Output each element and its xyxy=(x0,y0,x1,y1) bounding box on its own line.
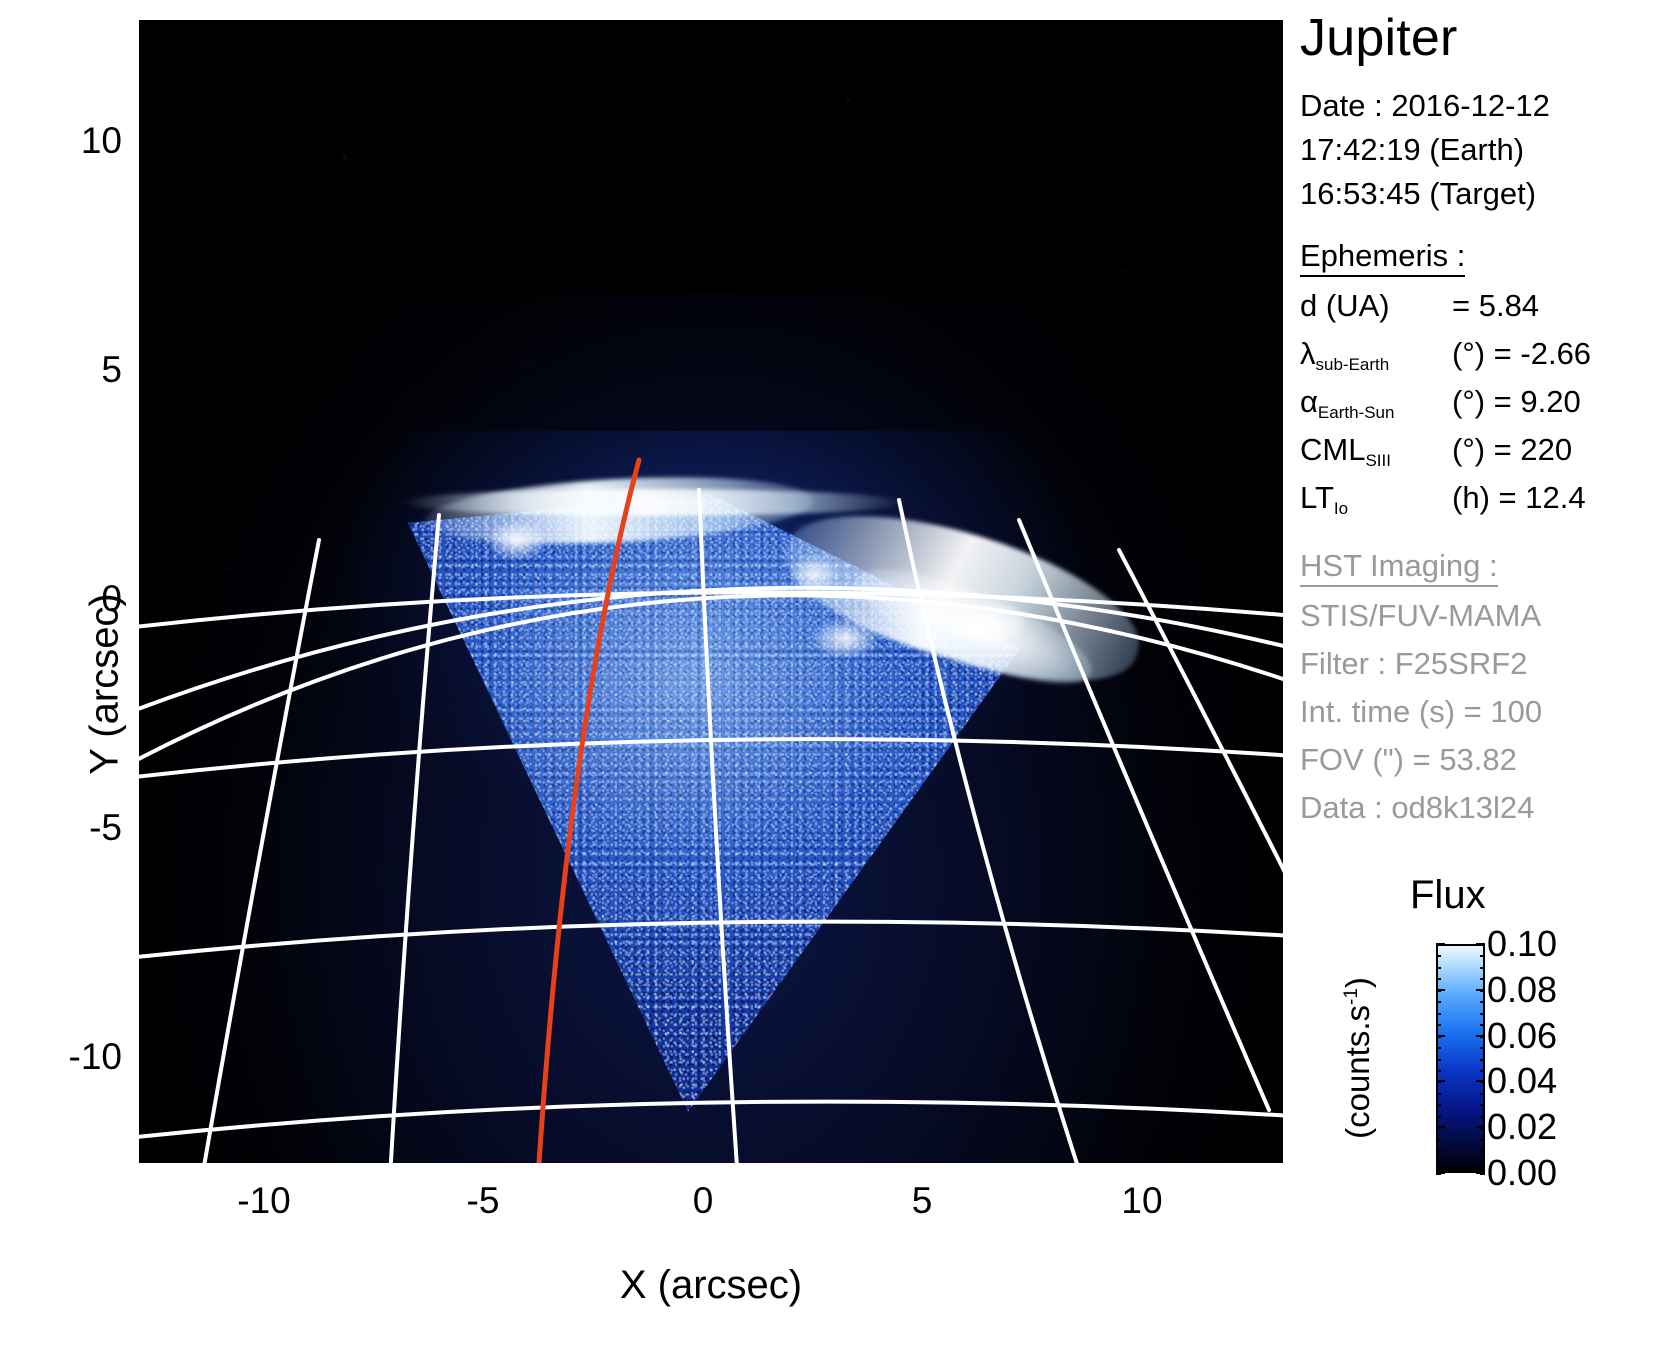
ephemeris-value-cml: = 220 xyxy=(1494,432,1572,467)
hst-imaging-heading-text: HST Imaging : xyxy=(1300,548,1498,587)
x-tick-label-2: 0 xyxy=(693,1180,714,1222)
ephemeris-label-sub-earth-latitude: λsub-Earth xyxy=(1300,336,1452,372)
y-axis-title: Y (arcsec) xyxy=(82,593,127,775)
page-title: Jupiter xyxy=(1300,8,1457,68)
x-axis-title: X (arcsec) xyxy=(139,1263,1283,1308)
colorbar-unit-label: (counts.s-1) xyxy=(1339,977,1377,1139)
colorbar-minor-tick xyxy=(1480,1059,1485,1061)
colorbar-minor-tick xyxy=(1436,1162,1441,1164)
ephemeris-heading: Ephemeris : xyxy=(1300,238,1465,274)
colorbar-minor-tick xyxy=(1480,944,1485,946)
latitude-line-40 xyxy=(139,1102,1283,1140)
ephemeris-label-phase-angle: αEarth-Sun xyxy=(1300,384,1452,420)
ephemeris-unit-sub-earth: (°) xyxy=(1452,336,1485,371)
colorbar-minor-tick xyxy=(1436,1024,1441,1026)
ephemeris-value-phase-angle: = 9.20 xyxy=(1494,384,1581,419)
colorbar-minor-tick xyxy=(1436,1013,1441,1015)
lt-symbol: LT xyxy=(1300,480,1334,515)
meridian-e xyxy=(1019,520,1269,1110)
colorbar-tick-0.00: 0.00 xyxy=(1487,1152,1557,1194)
latitude-line-50 xyxy=(139,922,1283,960)
y-tick-label-3: -5 xyxy=(89,807,122,849)
colorbar-minor-tick xyxy=(1436,1070,1441,1072)
colorbar-minor-tick xyxy=(1480,1070,1485,1072)
colorbar-minor-tick xyxy=(1436,1104,1441,1106)
colorbar xyxy=(1436,944,1485,1173)
ephemeris-row-cml: CMLSIII(°) = 220 xyxy=(1300,432,1572,468)
colorbar-minor-tick xyxy=(1480,1013,1485,1015)
y-tick-label-4: -10 xyxy=(69,1036,122,1078)
colorbar-minor-tick xyxy=(1436,978,1441,980)
colorbar-minor-tick xyxy=(1480,967,1485,969)
colorbar-title: Flux xyxy=(1410,873,1486,918)
colorbar-minor-tick xyxy=(1436,1150,1441,1152)
ephemeris-value-io-local-time: = 12.4 xyxy=(1499,480,1586,515)
ephemeris-unit-io-local-time: (h) xyxy=(1452,480,1490,515)
colorbar-minor-tick xyxy=(1436,1059,1441,1061)
ephemeris-heading-text: Ephemeris : xyxy=(1300,238,1465,277)
cml-symbol: CML xyxy=(1300,432,1365,467)
hst-filter: Filter : F25SRF2 xyxy=(1300,646,1527,682)
colorbar-minor-tick xyxy=(1480,1116,1485,1118)
colorbar-unit-text: (counts.s xyxy=(1339,1005,1376,1139)
colorbar-tick-0.08: 0.08 xyxy=(1487,969,1557,1011)
colorbar-minor-tick xyxy=(1436,1139,1441,1141)
colorbar-minor-tick xyxy=(1436,1127,1441,1129)
coordinate-overlay xyxy=(139,20,1283,1163)
colorbar-minor-tick xyxy=(1480,1047,1485,1049)
colorbar-unit-exponent: -1 xyxy=(1341,988,1362,1005)
colorbar-minor-tick xyxy=(1436,1093,1441,1095)
colorbar-minor-tick xyxy=(1436,967,1441,969)
earth-sun-subscript: Earth-Sun xyxy=(1318,403,1395,422)
colorbar-minor-tick xyxy=(1480,1001,1485,1003)
alpha-symbol: α xyxy=(1300,384,1318,419)
colorbar-minor-tick xyxy=(1436,990,1441,992)
hst-fov: FOV (") = 53.82 xyxy=(1300,742,1517,778)
io-subscript: Io xyxy=(1334,499,1348,518)
ephemeris-row-sub-earth-latitude: λsub-Earth(°) = -2.66 xyxy=(1300,336,1591,372)
colorbar-minor-tick xyxy=(1436,1116,1441,1118)
io-footprint-track xyxy=(539,460,639,1163)
colorbar-minor-tick xyxy=(1480,1104,1485,1106)
figure-root: -10-505101050-5-10 Y (arcsec) X (arcsec)… xyxy=(0,0,1676,1367)
colorbar-minor-tick xyxy=(1480,1139,1485,1141)
colorbar-minor-tick xyxy=(1436,955,1441,957)
x-tick-label-0: -10 xyxy=(237,1180,290,1222)
ephemeris-unit-cml: (°) xyxy=(1452,432,1485,467)
ephemeris-row-phase-angle: αEarth-Sun(°) = 9.20 xyxy=(1300,384,1581,420)
observation-time-target: 16:53:45 (Target) xyxy=(1300,176,1536,212)
colorbar-minor-tick xyxy=(1480,1162,1485,1164)
colorbar-tick-0.06: 0.06 xyxy=(1487,1015,1557,1057)
colorbar-minor-tick xyxy=(1480,1093,1485,1095)
y-tick-label-1: 5 xyxy=(101,349,122,391)
ephemeris-label-io-local-time: LTIo xyxy=(1300,480,1452,516)
x-tick-label-4: 10 xyxy=(1121,1180,1162,1222)
colorbar-minor-tick xyxy=(1436,944,1441,946)
meridian-a xyxy=(199,540,319,1163)
colorbar-minor-tick xyxy=(1480,1081,1485,1083)
colorbar-minor-tick xyxy=(1436,1036,1441,1038)
siii-subscript: SIII xyxy=(1365,451,1391,470)
planet-limb-inner-arc xyxy=(139,588,1283,720)
hst-data-id: Data : od8k13l24 xyxy=(1300,790,1534,826)
colorbar-minor-tick xyxy=(1436,1173,1441,1175)
colorbar-unit-paren: ) xyxy=(1339,977,1376,988)
colorbar-minor-tick xyxy=(1436,1047,1441,1049)
colorbar-minor-tick xyxy=(1480,1150,1485,1152)
colorbar-minor-tick xyxy=(1480,1036,1485,1038)
sub-earth-subscript: sub-Earth xyxy=(1316,355,1390,374)
colorbar-minor-tick xyxy=(1480,990,1485,992)
hst-instrument: STIS/FUV-MAMA xyxy=(1300,598,1541,634)
colorbar-minor-tick xyxy=(1480,1173,1485,1175)
ephemeris-value-sub-earth-latitude: = -2.66 xyxy=(1494,336,1591,371)
colorbar-minor-tick xyxy=(1436,1081,1441,1083)
colorbar-tick-0.02: 0.02 xyxy=(1487,1106,1557,1148)
colorbar-minor-tick xyxy=(1480,1024,1485,1026)
ephemeris-unit-phase-angle: (°) xyxy=(1452,384,1485,419)
colorbar-minor-tick xyxy=(1480,955,1485,957)
hst-imaging-heading: HST Imaging : xyxy=(1300,548,1498,584)
jupiter-image-plot xyxy=(139,20,1283,1163)
colorbar-minor-tick xyxy=(1480,1127,1485,1129)
hst-int-time: Int. time (s) = 100 xyxy=(1300,694,1542,730)
observation-time-earth: 17:42:19 (Earth) xyxy=(1300,132,1524,168)
colorbar-tick-0.10: 0.10 xyxy=(1487,923,1557,965)
ephemeris-row-io-local-time: LTIo(h) = 12.4 xyxy=(1300,480,1586,516)
lambda-symbol: λ xyxy=(1300,336,1316,371)
colorbar-minor-tick xyxy=(1480,978,1485,980)
x-tick-label-1: -5 xyxy=(467,1180,500,1222)
y-tick-label-0: 10 xyxy=(81,120,122,162)
ephemeris-label-distance: d (UA) xyxy=(1300,288,1452,324)
colorbar-minor-tick xyxy=(1436,1001,1441,1003)
ephemeris-label-cml: CMLSIII xyxy=(1300,432,1452,468)
observation-date: Date : 2016-12-12 xyxy=(1300,88,1550,124)
ephemeris-value-distance: = 5.84 xyxy=(1452,288,1539,323)
ephemeris-row-distance: d (UA)= 5.84 xyxy=(1300,288,1539,324)
colorbar-tick-0.04: 0.04 xyxy=(1487,1060,1557,1102)
x-tick-label-3: 5 xyxy=(912,1180,933,1222)
meridian-b xyxy=(389,515,439,1163)
